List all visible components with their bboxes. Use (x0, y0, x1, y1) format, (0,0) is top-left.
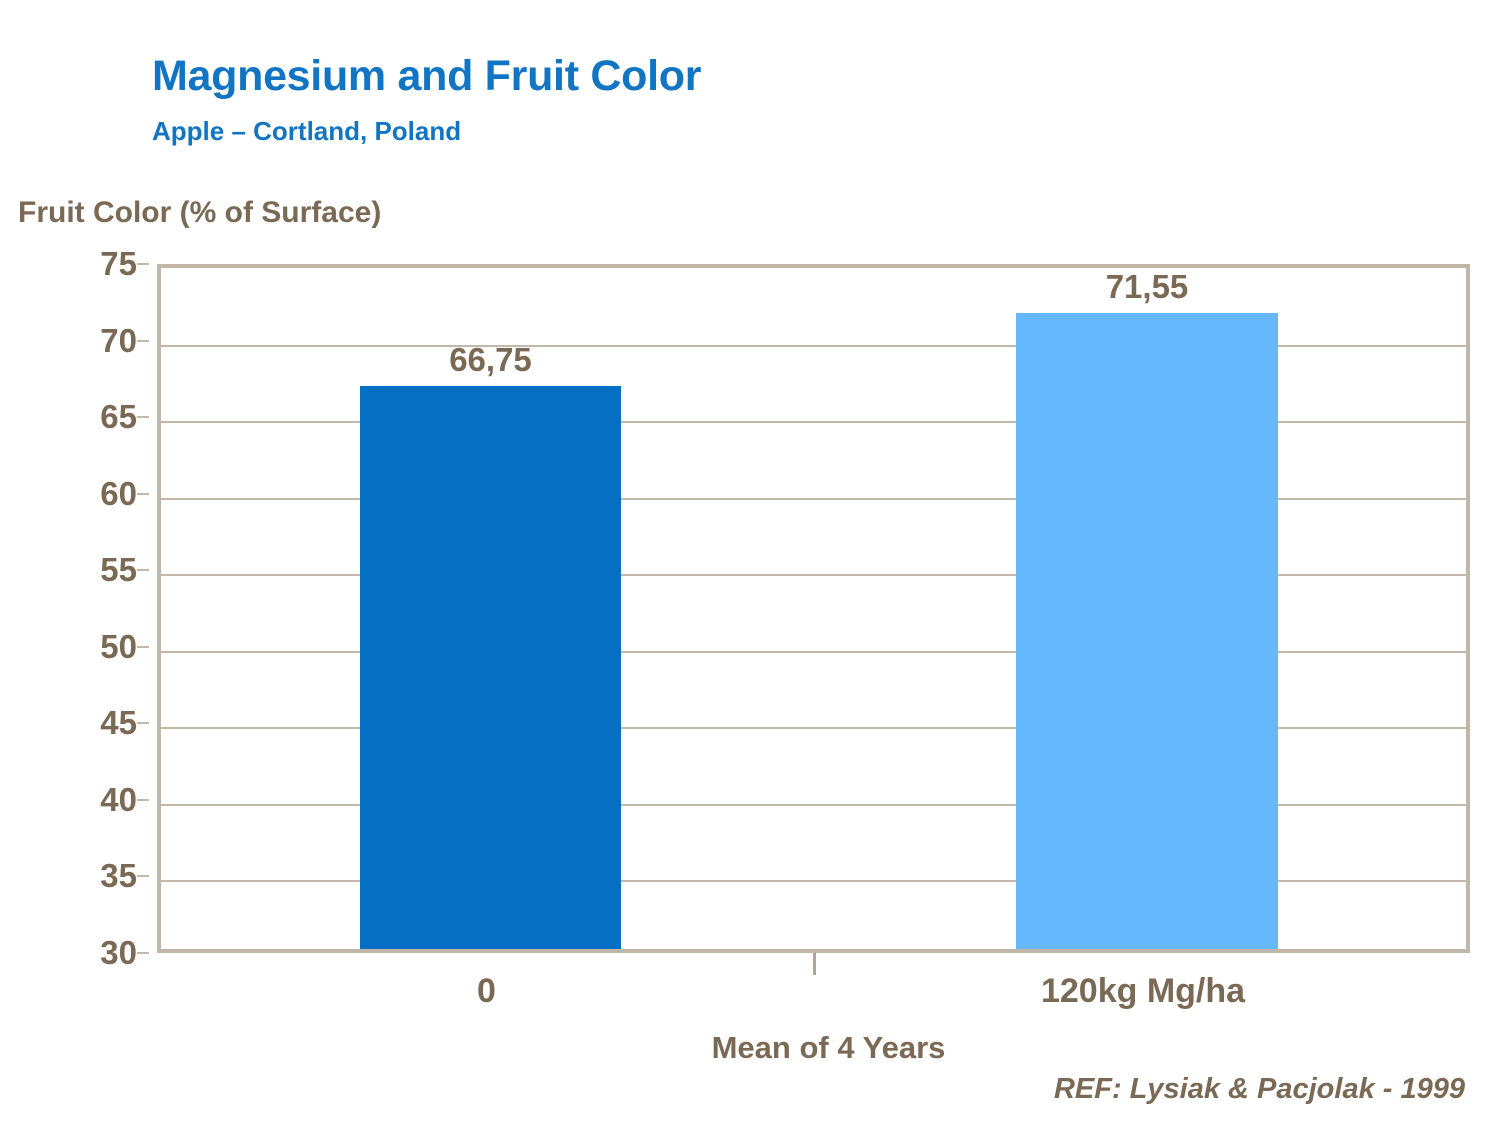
plot-area: 66,7571,55 (157, 264, 1470, 953)
bar-0[interactable] (360, 386, 621, 949)
y-axis-tick-mark (137, 646, 149, 648)
y-axis-title: Fruit Color (% of Surface) (18, 196, 381, 230)
y-axis-tick-label: 70 (47, 322, 137, 360)
y-axis-tick-label: 50 (47, 628, 137, 666)
y-axis-tick-label: 60 (47, 475, 137, 513)
y-axis-tick-mark (137, 416, 149, 418)
y-axis-tick-label: 35 (47, 857, 137, 895)
bar-value-label: 66,75 (449, 341, 532, 379)
y-axis-tick-mark (137, 952, 149, 954)
y-axis-tick-mark (137, 493, 149, 495)
y-axis-tick-label: 65 (47, 398, 137, 436)
y-axis-tick-label: 55 (47, 551, 137, 589)
y-axis-tick-label-group: 75706560555045403530 (32, 264, 137, 953)
bar-value-label: 71,55 (1106, 268, 1189, 306)
y-axis-tick-mark (137, 263, 149, 265)
x-axis-tick-label: 0 (477, 972, 496, 1011)
reference-note: REF: Lysiak & Pacjolak - 1999 (1054, 1073, 1465, 1106)
x-axis-title: Mean of 4 Years (0, 1030, 1500, 1066)
x-axis-tick-label: 120kg Mg/ha (1041, 972, 1245, 1011)
y-axis-tick-mark (137, 340, 149, 342)
x-axis-center-tick (813, 953, 816, 975)
y-axis-tick-label: 75 (47, 245, 137, 283)
y-axis-tick-mark (137, 875, 149, 877)
chart-subtitle: Apple – Cortland, Poland (152, 116, 461, 147)
y-axis-tick-mark (137, 799, 149, 801)
bar-1[interactable] (1016, 313, 1278, 949)
y-axis-tick-label: 30 (47, 934, 137, 972)
y-axis-tick-label: 40 (47, 781, 137, 819)
y-axis-tick-mark (137, 722, 149, 724)
y-axis-tick-label: 45 (47, 704, 137, 742)
y-axis-tick-mark (137, 569, 149, 571)
page-title: Magnesium and Fruit Color (152, 52, 701, 101)
